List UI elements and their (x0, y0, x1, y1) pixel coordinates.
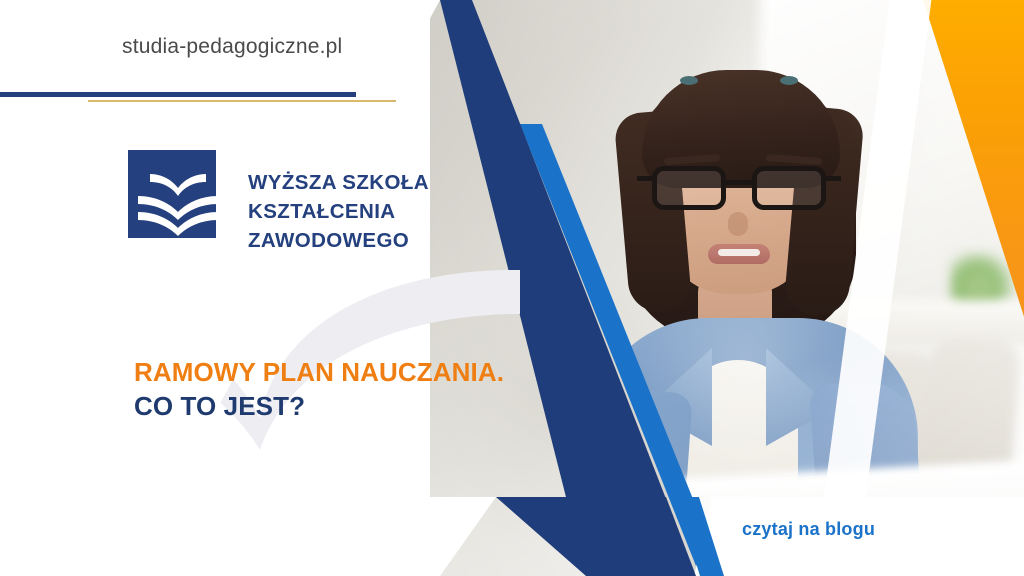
glasses-temple-right (825, 176, 841, 181)
left-white-panel (0, 0, 452, 576)
nose (728, 212, 748, 236)
promo-banner: studia-pedagogiczne.pl WYŻSZA SZKOŁA KSZ… (0, 0, 1024, 576)
eye-right (780, 76, 798, 85)
site-url: studia-pedagogiczne.pl (122, 35, 342, 59)
cta-read-on-blog-label[interactable]: czytaj na blogu (742, 519, 875, 540)
eyeglasses (652, 166, 826, 210)
lens-right (752, 166, 826, 210)
university-name-line1: WYŻSZA SZKOŁA (248, 168, 429, 197)
eye-left (680, 76, 698, 85)
headline-line-1: RAMOWY PLAN NAUCZANIA. (134, 356, 504, 390)
headline-line-2: CO TO JEST? (134, 390, 504, 424)
header-gold-rule (88, 100, 396, 102)
open-book-logo-icon (128, 140, 228, 240)
headline: RAMOWY PLAN NAUCZANIA. CO TO JEST? (134, 356, 504, 424)
university-name-line2: KSZTAŁCENIA (248, 197, 429, 226)
lens-left (652, 166, 726, 210)
university-name-line3: ZAWODOWEGO (248, 226, 429, 255)
teeth (718, 249, 760, 256)
glasses-temple-left (637, 176, 653, 181)
university-logo[interactable]: WYŻSZA SZKOŁA KSZTAŁCENIA ZAWODOWEGO (128, 140, 429, 255)
glasses-bridge (726, 180, 752, 185)
header-navy-rule (0, 92, 356, 97)
university-name: WYŻSZA SZKOŁA KSZTAŁCENIA ZAWODOWEGO (248, 168, 429, 255)
